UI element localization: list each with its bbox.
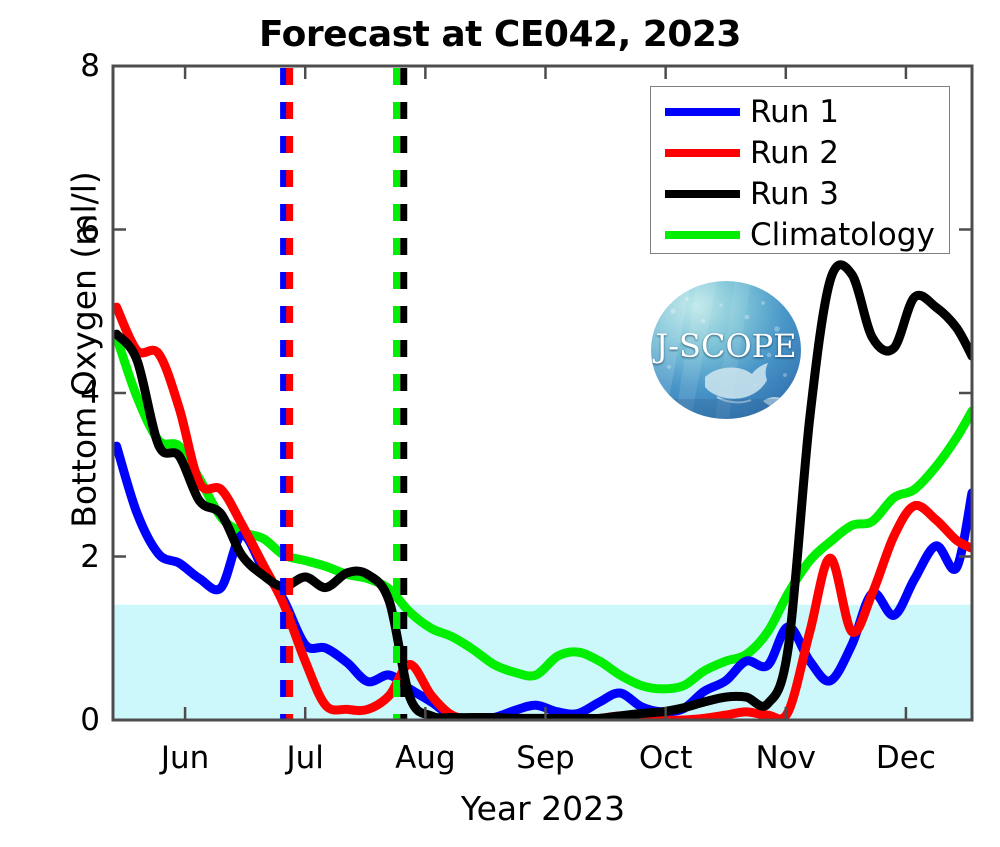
legend-item-run-2[interactable]: Run 2	[651, 132, 949, 174]
legend-label: Run 3	[750, 179, 839, 210]
j-scope-logo: J-SCOPE	[651, 281, 801, 419]
logo-text: J-SCOPE	[651, 327, 801, 365]
legend-color-swatch	[665, 231, 740, 239]
legend-item-climatology[interactable]: Climatology	[651, 214, 949, 256]
chart-legend: Run 1Run 2Run 3Climatology	[650, 86, 950, 254]
legend-color-swatch	[665, 149, 740, 157]
legend-item-run-3[interactable]: Run 3	[651, 173, 949, 215]
legend-label: Run 2	[750, 138, 839, 169]
legend-label: Climatology	[750, 220, 935, 251]
legend-color-swatch	[665, 108, 740, 116]
legend-label: Run 1	[750, 97, 839, 128]
forecast-chart-figure: Forecast at CE042, 2023 Bottom Oxygen (m…	[0, 0, 1000, 847]
legend-item-run-1[interactable]: Run 1	[651, 91, 949, 133]
legend-color-swatch	[665, 190, 740, 198]
